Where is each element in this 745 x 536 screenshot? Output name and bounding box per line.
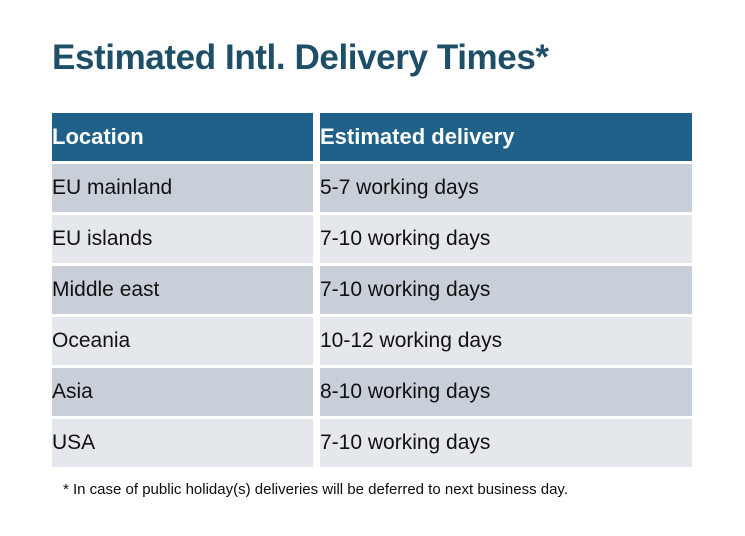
column-gutter — [313, 113, 320, 161]
row-gutter — [313, 368, 320, 416]
row-gutter — [313, 215, 320, 263]
cell-location: EU islands — [52, 215, 313, 263]
table-body: EU mainland 5-7 working days EU islands … — [52, 161, 692, 467]
table-header: Location Estimated delivery — [52, 113, 692, 161]
table-row: Middle east 7-10 working days — [52, 266, 692, 314]
table-row: Asia 8-10 working days — [52, 368, 692, 416]
column-header-location: Location — [52, 113, 313, 161]
delivery-times-table: Location Estimated delivery EU mainland … — [52, 113, 692, 467]
cell-location: Middle east — [52, 266, 313, 314]
delivery-times-page: Estimated Intl. Delivery Times* Location… — [0, 0, 745, 536]
cell-location: USA — [52, 419, 313, 467]
cell-estimate: 7-10 working days — [320, 215, 692, 263]
cell-estimate: 7-10 working days — [320, 266, 692, 314]
cell-location: EU mainland — [52, 164, 313, 212]
cell-estimate: 10-12 working days — [320, 317, 692, 365]
table-row: EU mainland 5-7 working days — [52, 164, 692, 212]
table-row: Oceania 10-12 working days — [52, 317, 692, 365]
footnote: * In case of public holiday(s) deliverie… — [63, 480, 568, 500]
table-row: USA 7-10 working days — [52, 419, 692, 467]
cell-estimate: 5-7 working days — [320, 164, 692, 212]
row-gutter — [313, 419, 320, 467]
cell-estimate: 7-10 working days — [320, 419, 692, 467]
cell-estimate: 8-10 working days — [320, 368, 692, 416]
column-header-estimated-delivery: Estimated delivery — [320, 113, 692, 161]
page-title: Estimated Intl. Delivery Times* — [52, 36, 549, 80]
row-gutter — [313, 164, 320, 212]
table-row: EU islands 7-10 working days — [52, 215, 692, 263]
cell-location: Oceania — [52, 317, 313, 365]
row-gutter — [313, 317, 320, 365]
cell-location: Asia — [52, 368, 313, 416]
table-header-row: Location Estimated delivery — [52, 113, 692, 161]
row-gutter — [313, 266, 320, 314]
